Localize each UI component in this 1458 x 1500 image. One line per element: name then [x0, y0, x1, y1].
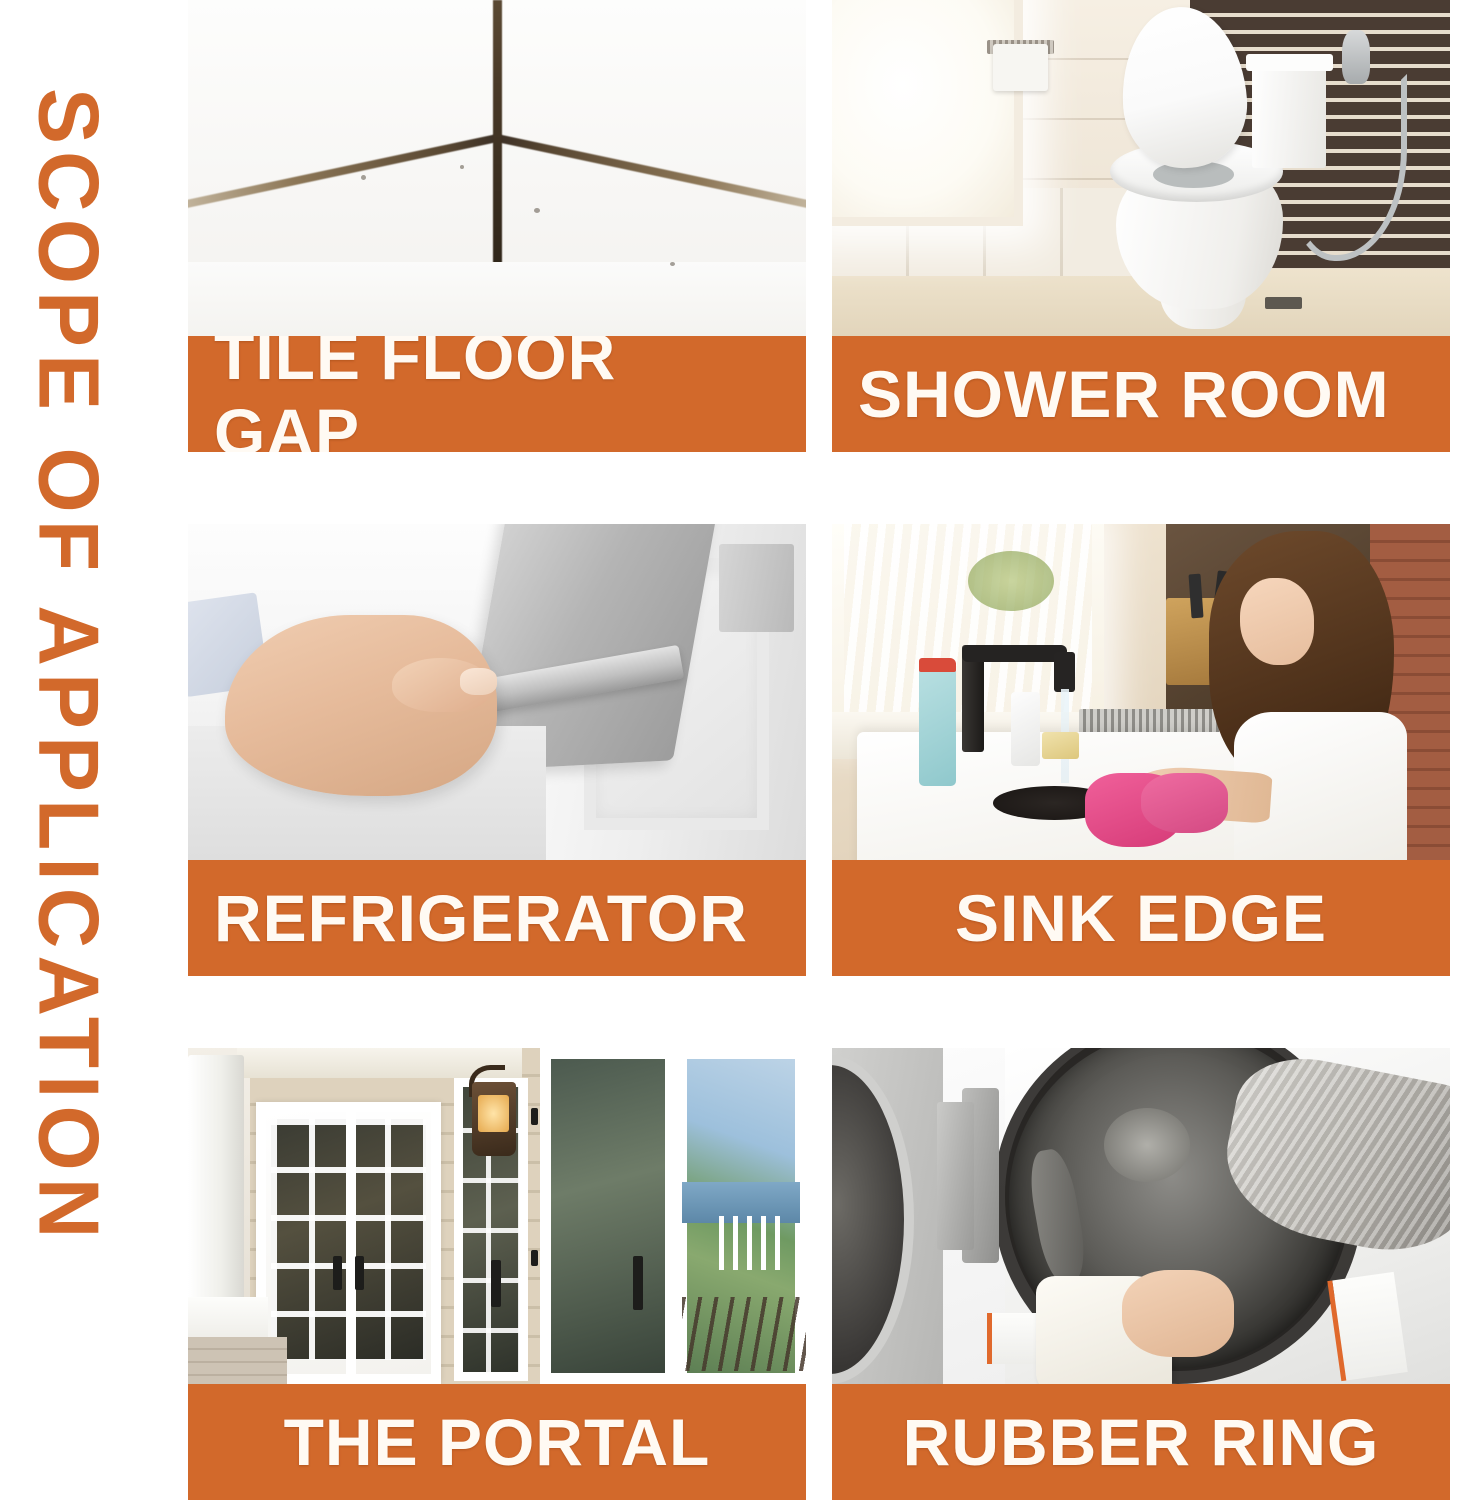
floor-drain [1265, 297, 1302, 309]
application-grid: TILE FLOOR GAP [188, 0, 1450, 1500]
caption-refrigerator: REFRIGERATOR [188, 860, 806, 976]
photo-sink-edge [832, 524, 1450, 860]
refrigerator-hinge [719, 544, 793, 631]
caption-rubber-ring: RUBBER RING [832, 1384, 1450, 1500]
door-handle [355, 1256, 364, 1290]
panel-shower-room: SHOWER ROOM [832, 0, 1450, 452]
spray-bottle [919, 665, 956, 786]
hand [1122, 1270, 1233, 1357]
grout-line-right [496, 134, 806, 214]
faucet-spout [962, 645, 1067, 662]
mold-speck [361, 175, 366, 180]
panel-the-portal: THE PORTAL [188, 1048, 806, 1500]
warning-label-right [1327, 1272, 1407, 1381]
photo-tile-floor-gap [188, 0, 806, 336]
panel-refrigerator: REFRIGERATOR [188, 524, 806, 976]
toilet-tank-lid [1246, 54, 1333, 71]
photo-refrigerator [188, 524, 806, 860]
door-hinge [531, 1108, 538, 1125]
sidelite-handle [491, 1260, 501, 1307]
panel-tile-floor-gap: TILE FLOOR GAP [188, 0, 806, 452]
bathroom-window [832, 0, 1023, 226]
panel-rubber-ring: RUBBER RING [832, 1048, 1450, 1500]
glass-door-center [540, 1048, 676, 1384]
grout-line-left [188, 134, 498, 214]
caption-the-portal: THE PORTAL [188, 1384, 806, 1500]
photo-the-portal [188, 1048, 806, 1384]
sponge [1042, 732, 1079, 759]
scope-of-application-infographic: SCOPE OF APPLICATION TILE FLOOR GAP [0, 0, 1458, 1500]
pink-glove-right [1141, 773, 1228, 833]
photo-rubber-ring [832, 1048, 1450, 1384]
mold-speck [534, 208, 540, 213]
caption-sink-edge: SINK EDGE [832, 860, 1450, 976]
lantern-light [478, 1095, 509, 1132]
soap-dispenser [1011, 692, 1039, 766]
vertical-title-column: SCOPE OF APPLICATION [0, 0, 165, 1500]
toilet-paper-roll [993, 44, 1049, 91]
girl-face [1240, 578, 1314, 665]
reflected-pergola [719, 1216, 787, 1270]
thumbnail [460, 668, 497, 695]
photo-shower-room [832, 0, 1450, 336]
spray-bottle-cap [919, 658, 956, 671]
page-title: SCOPE OF APPLICATION [26, 88, 112, 1245]
reflected-railing [682, 1297, 806, 1371]
caption-shower-room: SHOWER ROOM [832, 336, 1450, 452]
porch-column [188, 1055, 244, 1337]
stone-veneer [188, 1337, 287, 1384]
door-handle [333, 1256, 342, 1290]
washer-hinge [937, 1102, 974, 1250]
door-handle [633, 1256, 643, 1310]
mold-speck [460, 165, 464, 169]
faucet-outlet [1054, 652, 1075, 692]
caption-tile-floor-gap: TILE FLOOR GAP [188, 336, 806, 452]
french-door-mullion [346, 1112, 356, 1374]
lower-tile-band [188, 262, 806, 336]
door-hinge [531, 1250, 538, 1267]
grout-line-vertical [493, 0, 502, 269]
panel-sink-edge: SINK EDGE [832, 524, 1450, 976]
